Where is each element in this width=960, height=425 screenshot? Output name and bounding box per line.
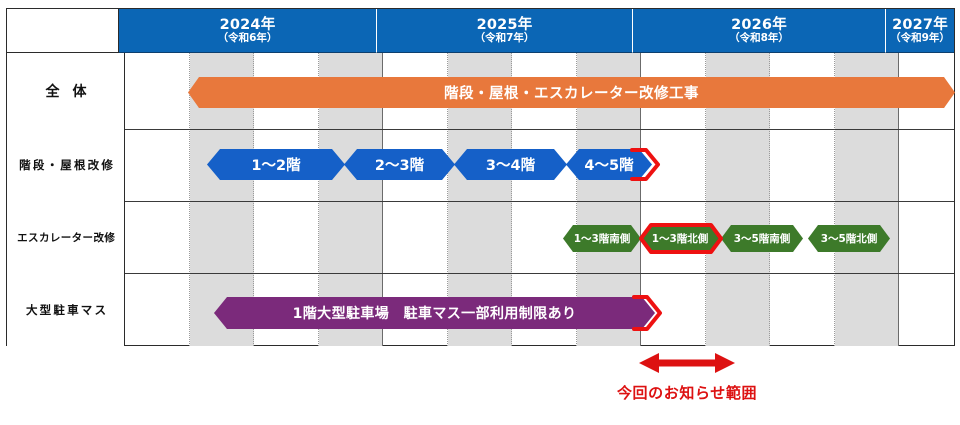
header-era-label: （令和8年） (729, 33, 789, 45)
bar-escalator-phase-3[interactable]: 3〜5階南側 (721, 225, 803, 252)
row-label-stairs-roof: 階段・屋根改修 (7, 129, 125, 201)
header-year-label: 2025年 (477, 17, 533, 33)
row-divider (7, 129, 954, 130)
header-year-2026: 2026年 （令和8年） (633, 9, 886, 53)
header-year-label: 2026年 (731, 17, 787, 33)
announcement-scope-note: 今回のお知らせ範囲 (562, 350, 812, 420)
header-year-2024: 2024年 （令和6年） (119, 9, 377, 53)
gantt-schedule-page: 2024年 （令和6年） 2025年 （令和7年） 2026年 （令和8年） 2… (0, 0, 960, 425)
table-header-row: 2024年 （令和6年） 2025年 （令和7年） 2026年 （令和8年） 2… (7, 9, 954, 53)
bar-escalator-phase-1[interactable]: 1〜3階南側 (563, 225, 641, 252)
header-era-label: （令和7年） (475, 33, 535, 45)
bar-stairs-phase-1[interactable]: 1〜2階 (207, 149, 345, 180)
header-year-2025: 2025年 （令和7年） (377, 9, 633, 53)
row-label-parking: 大型駐車マス (7, 273, 125, 346)
header-corner-cell (7, 9, 119, 53)
bar-stairs-phase-2[interactable]: 2〜3階 (344, 149, 455, 180)
header-year-2027: 2027年 （令和9年） (886, 9, 954, 53)
table-body: 全体 階段・屋根改修 エスカレーター改修 大型駐車マス 階段・屋根・エスカレータ… (7, 53, 954, 346)
bar-stairs-phase-3[interactable]: 3〜4階 (454, 149, 567, 180)
row-label-overall: 全体 (7, 53, 125, 129)
bar-parking-restriction[interactable]: 1階大型駐車場 駐車マス一部利用制限あり (214, 297, 655, 329)
bar-stairs-phase-4[interactable]: 4〜5階 (566, 149, 652, 180)
header-year-label: 2027年 (892, 17, 948, 33)
row-divider (7, 273, 954, 274)
header-era-label: （令和6年） (218, 33, 278, 45)
row-label-escalator: エスカレーター改修 (7, 201, 125, 273)
header-year-label: 2024年 (220, 17, 276, 33)
schedule-table: 2024年 （令和6年） 2025年 （令和7年） 2026年 （令和8年） 2… (6, 8, 955, 346)
header-era-label: （令和9年） (890, 33, 950, 45)
bar-escalator-phase-4[interactable]: 3〜5階北側 (808, 225, 890, 252)
row-divider (7, 201, 954, 202)
bar-overall-renovation[interactable]: 階段・屋根・エスカレーター改修工事 (188, 77, 955, 108)
row-label-column: 全体 階段・屋根改修 エスカレーター改修 大型駐車マス (7, 53, 125, 346)
announcement-scope-label: 今回のお知らせ範囲 (617, 382, 757, 403)
bar-escalator-phase-2[interactable]: 1〜3階北側 (641, 225, 719, 252)
quarter-column (125, 53, 190, 346)
double-headed-arrow-icon (637, 350, 737, 376)
